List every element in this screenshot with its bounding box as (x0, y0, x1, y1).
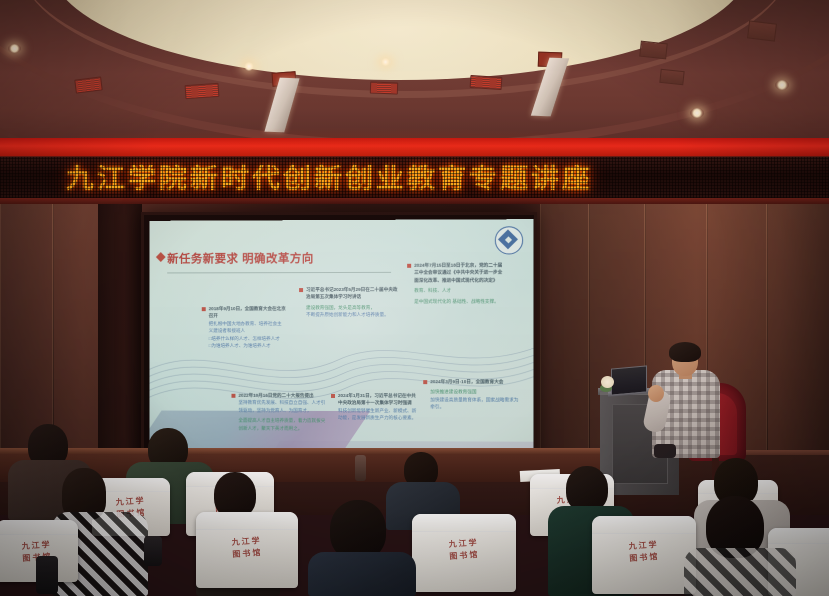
speaker-sleeve-cuff (654, 444, 676, 458)
led-pixel-grid (0, 157, 829, 201)
seat-cover-top (768, 528, 829, 544)
ceiling-spotlight (243, 62, 255, 71)
block-heading: 习近平总书记2023年5月29日在二十届中央政治局第五次集体学习时讲话 (306, 286, 398, 301)
slide-block-2024-01: 2024年1月31日，习近平总书记在中共中央政治局第十一次集体学习时强调 科技创… (338, 392, 418, 422)
lecture-hall-photo: 九江学院新时代创新创业教育专题讲座 (0, 0, 829, 596)
air-vent-icon (370, 82, 398, 95)
block-heading: 2024年3月9日-10日，全国教育大会 (430, 378, 519, 386)
block-line: 建设教育强国，龙头是高等教育， (306, 304, 398, 312)
slide-block-2024-07: 2024年7月15日至18日于北京，党的二十届三中全会审议通过《中共中央关于进一… (414, 262, 505, 305)
air-vent-icon (185, 83, 220, 99)
air-vent-icon (470, 75, 503, 90)
block-heading: 2024年1月31日，习近平总书记在中共中央政治局第十一次集体学习时强调 (338, 392, 418, 407)
block-line: □培养什么样的人才、怎样培养人才 (209, 335, 286, 342)
desk-edge (0, 448, 600, 454)
bullet-icon (407, 264, 411, 268)
block-heading: 2018年9月10日，全国教育大会在北京召开 (209, 305, 286, 320)
slide-block-2024-03: 2024年3月9日-10日，全国教育大会 加快推进建设教育强国 加快建设高质量教… (430, 378, 519, 411)
block-line: 教育、科技、人才 (414, 287, 505, 295)
block-line: 全面提高人才自主培养质量，着力造就拔尖创新人才，聚天下英才而用之。 (238, 417, 326, 432)
projection-screen: 新任务新要求 明确改革方向 2018年9月10日，全国教育大会在北京召开 把扎根… (141, 212, 537, 468)
block-line: 把扎根中国大地办教育、培养社会主义建设者和接班人 (209, 320, 286, 335)
bullet-icon (331, 394, 334, 398)
block-line: 加快推进建设教育强国 (430, 389, 519, 397)
presentation-slide: 新任务新要求 明确改革方向 2018年9月10日，全国教育大会在北京召开 把扎根… (149, 219, 533, 464)
slide-block-2022: 2022年10月16日党的二十大报告提出 坚持教育优先发展、科技自立自强、人才引… (238, 392, 326, 432)
seat-cover-text: 九江学 图书馆 (592, 536, 696, 567)
seat-cover-text: 九江学 图书馆 (412, 534, 516, 565)
seat-cover-text: 九江学 图书馆 (196, 531, 298, 562)
audience-seat: 九江学 图书馆 (412, 514, 516, 592)
laptop-icon (611, 365, 647, 395)
ceiling-panel (639, 41, 668, 60)
audience-seat: 九江学 图书馆 (592, 516, 696, 594)
ceiling-spotlight (8, 44, 21, 53)
block-line: 加快建设高质量教育体系，国家战略需求为牵引。 (430, 396, 519, 411)
audience-seat: 九江学 图书馆 (196, 512, 298, 588)
bullet-icon (231, 394, 234, 397)
ceiling-panel (659, 69, 684, 85)
led-banner: 九江学院新时代创新创业教育专题讲座 (0, 156, 829, 202)
ceiling-spotlight (380, 58, 391, 66)
audience-torso (308, 552, 416, 596)
block-line: 是中国式现代化的 基础性、战略性支撑。 (414, 297, 505, 305)
block-line: 不断提升原始创新能力和人才培养质量。 (306, 311, 398, 318)
bullet-icon (202, 307, 205, 310)
ceiling-spotlight (775, 80, 789, 90)
bullet-icon (423, 380, 427, 384)
speaker-hand (648, 385, 664, 402)
block-line: 科技创新能够催生新产业、新模式、新动能，是发展新质生产力的核心要素。 (338, 407, 418, 422)
audience-torso (684, 548, 796, 596)
water-bottle-icon (144, 536, 162, 566)
block-line: 坚持教育优先发展、科技自立自强、人才引领驱动，坚持为党育人、为国育才， (238, 399, 326, 414)
university-emblem-icon (495, 226, 523, 254)
flower-arrangement-icon (601, 376, 614, 388)
bullet-icon (299, 288, 302, 292)
ceiling-spotlight (690, 108, 704, 118)
slide-title: 新任务新要求 明确改革方向 (167, 250, 314, 266)
seat-cover-top (592, 516, 696, 534)
slide-block-2023: 习近平总书记2023年5月29日在二十届中央政治局第五次集体学习时讲话 建设教育… (306, 286, 398, 319)
seat-cover-top (196, 512, 298, 530)
seat-cover-top (0, 520, 78, 535)
block-heading: 2024年7月15日至18日于北京，党的二十届三中全会审议通过《中共中央关于进一… (414, 262, 505, 285)
block-line: □为谁培养人才、为谁培养人才 (209, 342, 286, 349)
audience-head (330, 500, 386, 560)
ceiling-panel (747, 20, 777, 41)
water-bottle-icon (355, 455, 366, 481)
speaker-hair (669, 342, 701, 362)
slide-block-2018: 2018年9月10日，全国教育大会在北京召开 把扎根中国大地办教育、培养社会主义… (209, 305, 286, 349)
water-bottle-icon (36, 556, 58, 594)
seat-cover-top (412, 514, 516, 532)
